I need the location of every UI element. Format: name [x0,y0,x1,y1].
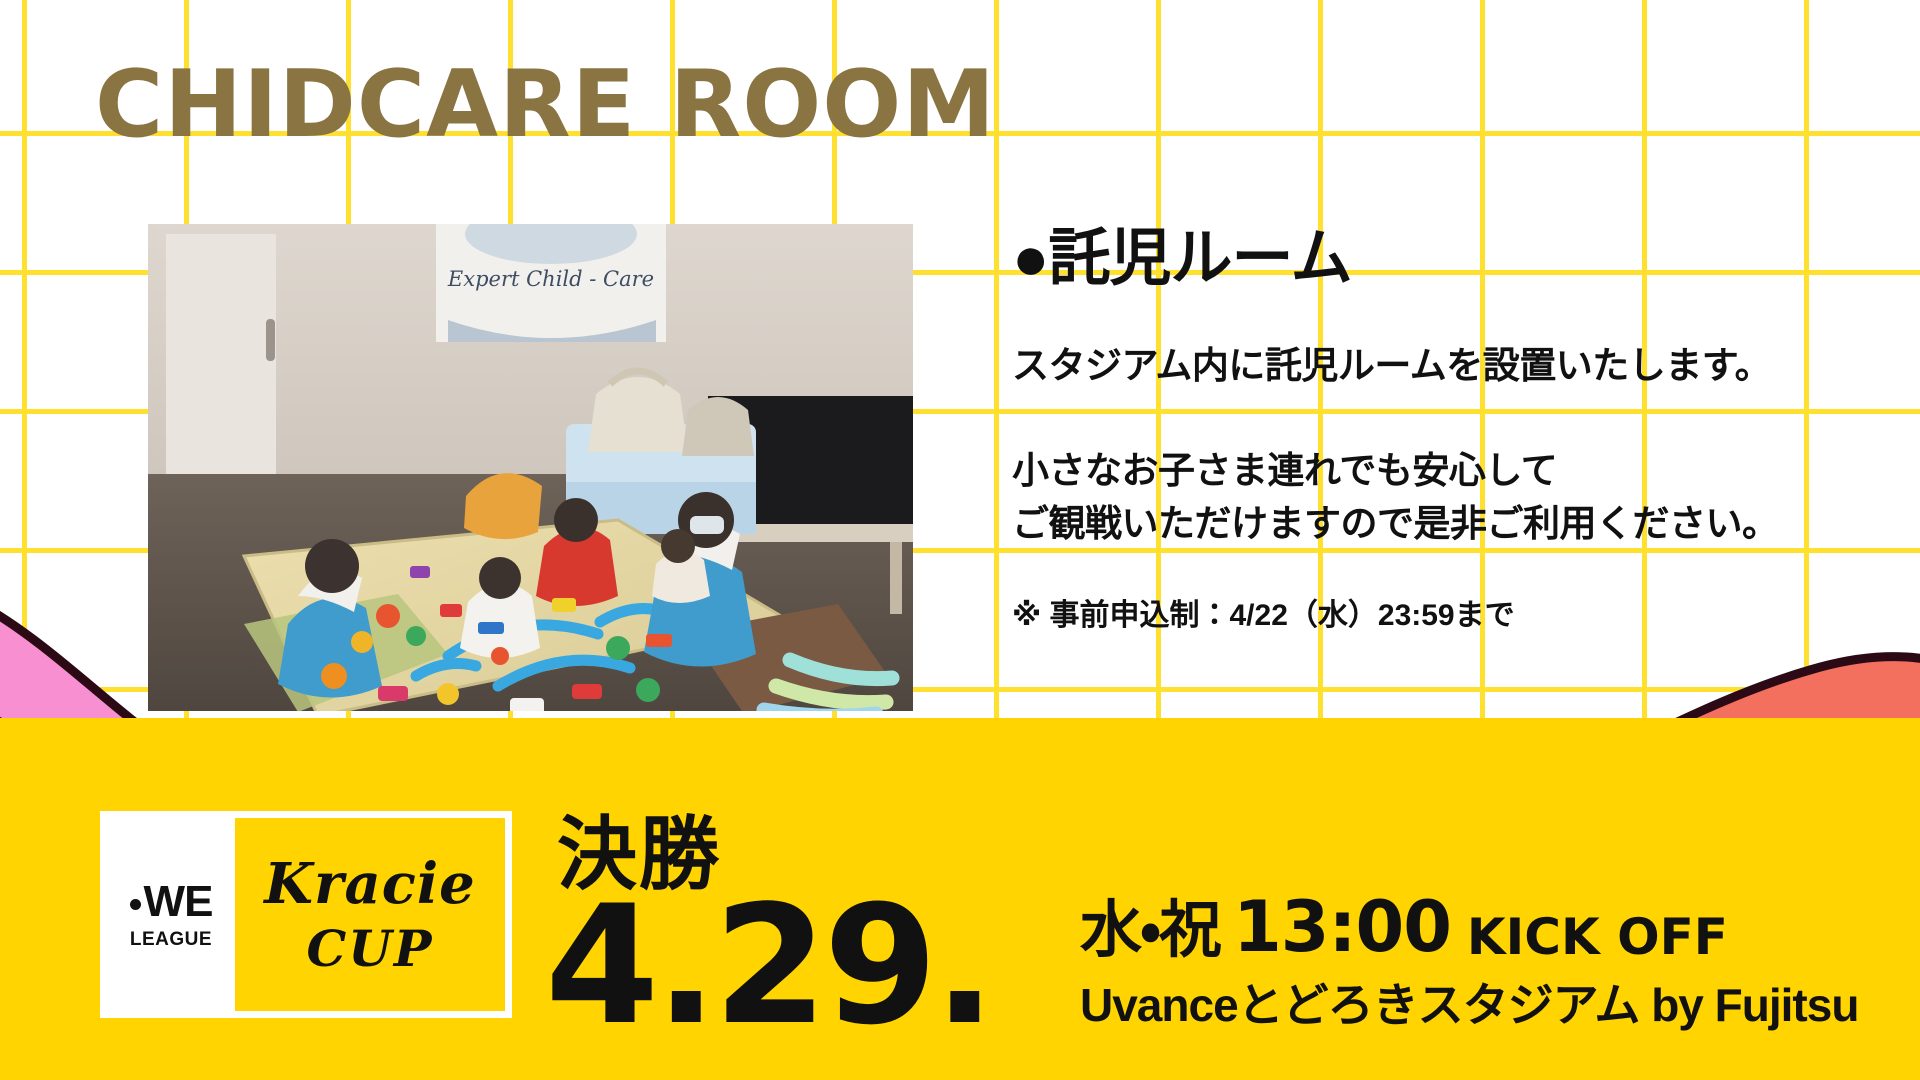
we-league-kracie-cup-logo: WE LEAGUE Kracie CUP [100,811,512,1018]
info-line-2: 小さなお子さま連れでも安心して [1012,445,1912,498]
match-venue: Uvanceとどろきスタジアム by Fujitsu [1080,982,1920,1028]
match-date-block: 決勝 4.29. [545,815,1065,1042]
info-line-1: スタジアム内に託児ルームを設置いたします。 [1012,341,1912,391]
page-title: CHIDCARE ROOM [95,58,996,151]
match-day-of-week: 水・祝 [1080,900,1219,962]
cup-text: CUP [307,924,434,974]
we-league-league-text: LEAGUE [130,930,212,949]
kickoff-time-row: 水・祝 13:00 KICK OFF [1080,892,1920,962]
we-league-mark: WE LEAGUE [107,818,235,1011]
kickoff-info: 水・祝 13:00 KICK OFF Uvanceとどろきスタジアム by Fu… [1080,892,1920,1028]
svg-text:Expert Child - Care: Expert Child - Care [447,267,654,291]
match-date: 4.29. [545,891,1065,1042]
kracie-cup-mark: Kracie CUP [235,818,505,1011]
kracie-text: Kracie [264,856,475,912]
we-league-we-text: WE [144,880,213,924]
section-heading: ●託児ルーム [1012,226,1912,291]
we-league-dot-icon [130,899,141,910]
we-league-we: WE [130,880,213,924]
match-time: 13:00 [1233,892,1451,962]
poster-canvas: CHIDCARE ROOM [0,0,1920,1080]
kickoff-label: KICK OFF [1467,912,1728,962]
